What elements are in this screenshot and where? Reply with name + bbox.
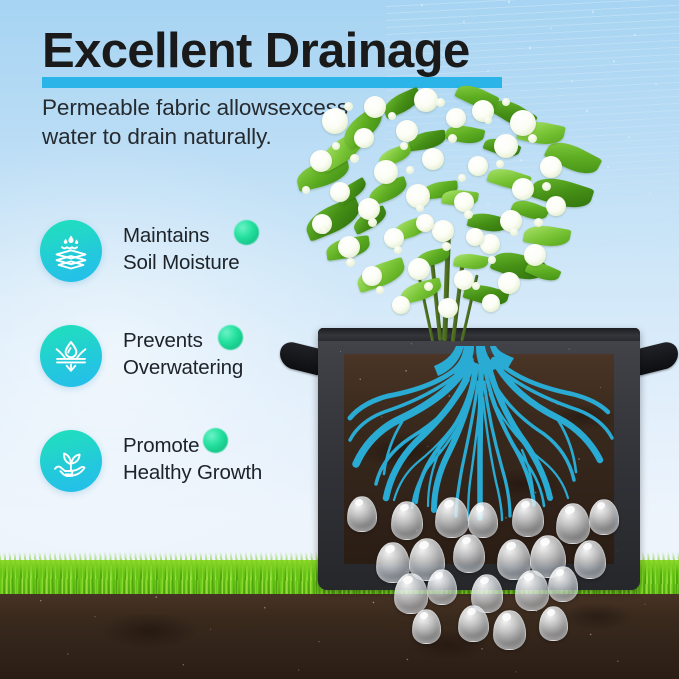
plant-flower bbox=[454, 270, 474, 290]
feature-item-maintains-soil-moisture[interactable]: Maintains Soil Moisture bbox=[40, 218, 320, 323]
feature-label: Maintains Soil Moisture bbox=[123, 222, 323, 277]
plant-bud bbox=[368, 218, 377, 227]
plant-flower bbox=[540, 156, 562, 178]
plant-bud bbox=[510, 228, 518, 236]
plant-bud bbox=[448, 134, 457, 143]
feature-list: Maintains Soil Moisture Prevents bbox=[40, 218, 320, 533]
plant-flower bbox=[438, 298, 458, 318]
plant-flower bbox=[362, 266, 382, 286]
feature-label-line-1: Prevents bbox=[123, 327, 323, 354]
plant-flower bbox=[310, 150, 332, 172]
plant-flower bbox=[524, 244, 546, 266]
plant-bud bbox=[542, 182, 551, 191]
plant-flower bbox=[364, 96, 386, 118]
plant-bud bbox=[332, 142, 340, 150]
plant-bud bbox=[376, 286, 384, 294]
plant-flower bbox=[408, 258, 430, 280]
plant-flower bbox=[482, 294, 500, 312]
plant-flower bbox=[330, 182, 350, 202]
plant-bud bbox=[458, 174, 466, 182]
plant-bud bbox=[416, 204, 424, 212]
feature-label-line-1: Maintains bbox=[123, 222, 323, 249]
plant-flower bbox=[338, 236, 360, 258]
plant-flower bbox=[374, 160, 398, 184]
plant-bud bbox=[534, 218, 543, 227]
plant-bud bbox=[350, 154, 359, 163]
ground-soil bbox=[0, 590, 679, 679]
plant-bud bbox=[394, 246, 402, 254]
plant-flower bbox=[546, 196, 566, 216]
ground-soil-texture bbox=[0, 590, 679, 679]
plant-flower bbox=[422, 148, 444, 170]
plant-bud bbox=[436, 98, 445, 107]
plant-bud bbox=[346, 258, 355, 267]
plant-bud bbox=[464, 210, 473, 219]
plant-bud bbox=[484, 116, 492, 124]
plant-bud bbox=[488, 256, 496, 264]
plant-bud bbox=[400, 142, 408, 150]
hand-holding-sprout-icon bbox=[40, 430, 102, 492]
plant-flower bbox=[354, 128, 374, 148]
plant-flower bbox=[322, 108, 348, 134]
grow-bag-body bbox=[318, 328, 640, 590]
root-system bbox=[344, 346, 614, 546]
plant-bud bbox=[528, 134, 537, 143]
plant-flower bbox=[416, 214, 434, 232]
plant-flower bbox=[446, 108, 466, 128]
grow-bag-top-rim bbox=[318, 328, 640, 341]
plant-flower bbox=[384, 228, 404, 248]
plant-flower bbox=[466, 228, 484, 246]
plant-flower bbox=[392, 296, 410, 314]
plant-flower bbox=[468, 156, 488, 176]
feature-label-line-2: Soil Moisture bbox=[123, 249, 323, 276]
plant-flower bbox=[512, 178, 534, 200]
plant-bud bbox=[388, 112, 396, 120]
root-branch bbox=[480, 366, 481, 518]
feature-label-line-2: Healthy Growth bbox=[123, 459, 323, 486]
plant-flower bbox=[432, 220, 454, 242]
plant-leaf bbox=[453, 251, 489, 272]
plant-flower bbox=[414, 88, 438, 112]
water-drop-permeable-fabric-icon bbox=[40, 325, 102, 387]
plant-flower bbox=[494, 134, 518, 158]
plant-flower bbox=[454, 192, 474, 212]
feature-label: Promote Healthy Growth bbox=[123, 432, 323, 487]
plant-flower bbox=[510, 110, 536, 136]
water-drops-soil-layers-icon bbox=[40, 220, 102, 282]
plant-bud bbox=[472, 282, 480, 290]
plant-bud bbox=[344, 102, 353, 111]
plant-bud bbox=[424, 282, 433, 291]
plant-flower bbox=[396, 120, 418, 142]
plant-bud bbox=[502, 98, 510, 106]
plant-bud bbox=[406, 166, 414, 174]
plant-flower bbox=[498, 272, 520, 294]
page-title: Excellent Drainage bbox=[42, 27, 470, 76]
feature-label: Prevents Overwatering bbox=[123, 327, 323, 382]
feature-label-line-2: Overwatering bbox=[123, 354, 323, 381]
plant-bud bbox=[320, 226, 328, 234]
plant-bud bbox=[496, 160, 504, 168]
feature-label-line-1: Promote bbox=[123, 432, 323, 459]
infographic-canvas: Excellent Drainage Permeable fabric allo… bbox=[0, 0, 679, 679]
root-branch bbox=[494, 360, 600, 460]
fabric-grow-bag-cross-section bbox=[318, 328, 640, 590]
feature-item-promote-healthy-growth[interactable]: Promote Healthy Growth bbox=[40, 428, 320, 533]
title-underline-bar bbox=[42, 77, 502, 88]
plant-flower bbox=[358, 198, 380, 220]
plant-bud bbox=[302, 186, 310, 194]
plant-bud bbox=[442, 242, 451, 251]
feature-item-prevents-overwatering[interactable]: Prevents Overwatering bbox=[40, 323, 320, 428]
